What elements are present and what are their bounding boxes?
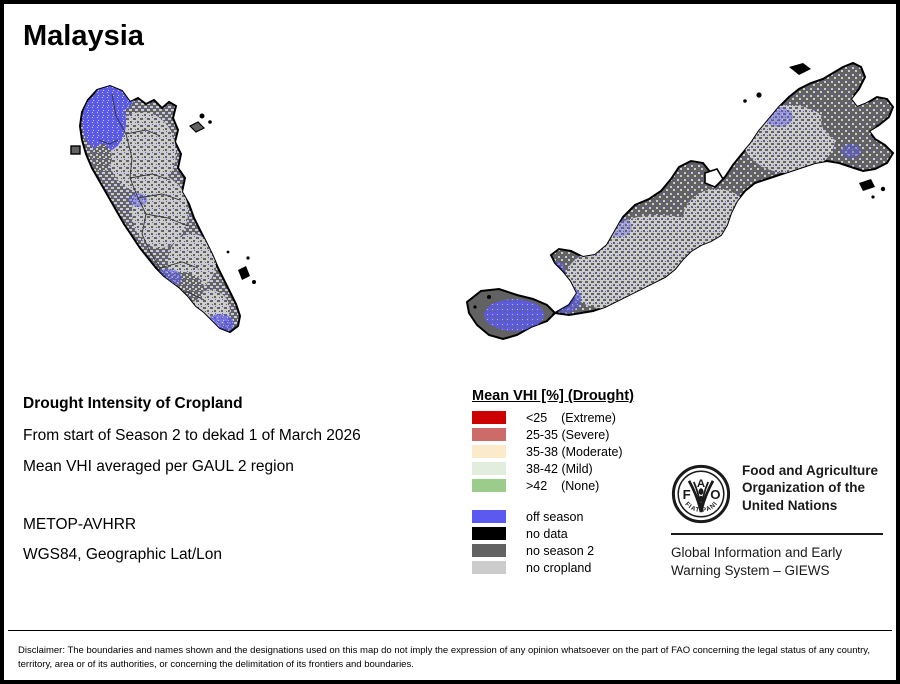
- legend-swatch-none: [472, 479, 506, 492]
- legend-title: Mean VHI [%] (Drought): [472, 388, 690, 404]
- fao-branding: F A O FIAT PANIS Food and Agriculture Or…: [671, 462, 886, 580]
- fao-organization-name: Food and Agriculture Organization of the…: [742, 462, 878, 514]
- langkawi-island: [71, 146, 80, 154]
- info-projection: WGS84, Geographic Lat/Lon: [23, 546, 222, 564]
- giews-text: Global Information and Early Warning Sys…: [671, 544, 886, 580]
- legend-swatch-extreme: [472, 411, 506, 424]
- legend-item-extreme: <25 (Extreme): [470, 409, 690, 426]
- info-metric: Mean VHI averaged per GAUL 2 region: [23, 458, 294, 476]
- legend-item-mild: 38-42 (Mild): [470, 460, 690, 477]
- legend-item-no-season-2: no season 2: [470, 542, 690, 559]
- fao-logo-letter-a: A: [697, 478, 705, 490]
- legend-swatch-no-cropland: [472, 561, 506, 574]
- fao-name-line-2: Organization of the: [742, 479, 878, 496]
- legend-label-off-season: off season: [526, 510, 583, 524]
- legend-label-no-cropland: no cropland: [526, 561, 591, 575]
- fao-name-line-3: United Nations: [742, 497, 878, 514]
- fao-name-line-1: Food and Agriculture: [742, 462, 878, 479]
- giews-line-1: Global Information and Early: [671, 544, 886, 562]
- info-heading: Drought Intensity of Cropland: [23, 395, 243, 413]
- legend: Mean VHI [%] (Drought) <25 (Extreme) 25-…: [470, 388, 690, 576]
- legend-item-no-data: no data: [470, 525, 690, 542]
- legend-swatch-mild: [472, 462, 506, 475]
- borneo-fill: [467, 63, 893, 339]
- island-east-1: [859, 179, 875, 191]
- offshore-island-ne: [190, 122, 204, 132]
- tioman-island: [238, 266, 250, 280]
- legend-swatch-moderate: [472, 445, 506, 458]
- map-east-malaysia-borneo: [459, 59, 900, 359]
- legend-label-extreme: <25 (Extreme): [526, 411, 616, 425]
- map-poster: Malaysia: [0, 0, 900, 684]
- legend-label-no-data: no data: [526, 527, 568, 541]
- peninsula-fill: [71, 84, 256, 334]
- legend-label-severe: 25-35 (Severe): [526, 428, 609, 442]
- legend-spacer: [470, 494, 690, 508]
- legend-label-none: >42 (None): [526, 479, 599, 493]
- map-peninsular-malaysia: [42, 82, 292, 357]
- island-north-1: [789, 63, 811, 75]
- legend-swatch-off-season: [472, 510, 506, 523]
- disclaimer-divider: [8, 630, 892, 631]
- legend-item-severe: 25-35 (Severe): [470, 426, 690, 443]
- giews-line-2: Warning System – GIEWS: [671, 562, 886, 580]
- legend-swatch-no-data: [472, 527, 506, 540]
- legend-swatch-no-season-2: [472, 544, 506, 557]
- legend-item-moderate: 35-38 (Moderate): [470, 443, 690, 460]
- legend-label-moderate: 35-38 (Moderate): [526, 445, 623, 459]
- fao-logo-letter-f: F: [683, 487, 691, 502]
- fao-divider: [671, 533, 883, 535]
- legend-label-mild: 38-42 (Mild): [526, 462, 593, 476]
- legend-label-no-season-2: no season 2: [526, 544, 594, 558]
- disclaimer-text: Disclaimer: The boundaries and names sho…: [18, 644, 878, 672]
- fao-logo-letter-o: O: [710, 487, 720, 502]
- page-title: Malaysia: [23, 22, 144, 51]
- legend-item-off-season: off season: [470, 508, 690, 525]
- fao-logo-icon: F A O FIAT PANIS: [671, 464, 731, 524]
- info-period: From start of Season 2 to dekad 1 of Mar…: [23, 427, 361, 445]
- legend-swatch-severe: [472, 428, 506, 441]
- legend-item-no-cropland: no cropland: [470, 559, 690, 576]
- info-sensor: METOP-AVHRR: [23, 516, 136, 534]
- legend-item-none: >42 (None): [470, 477, 690, 494]
